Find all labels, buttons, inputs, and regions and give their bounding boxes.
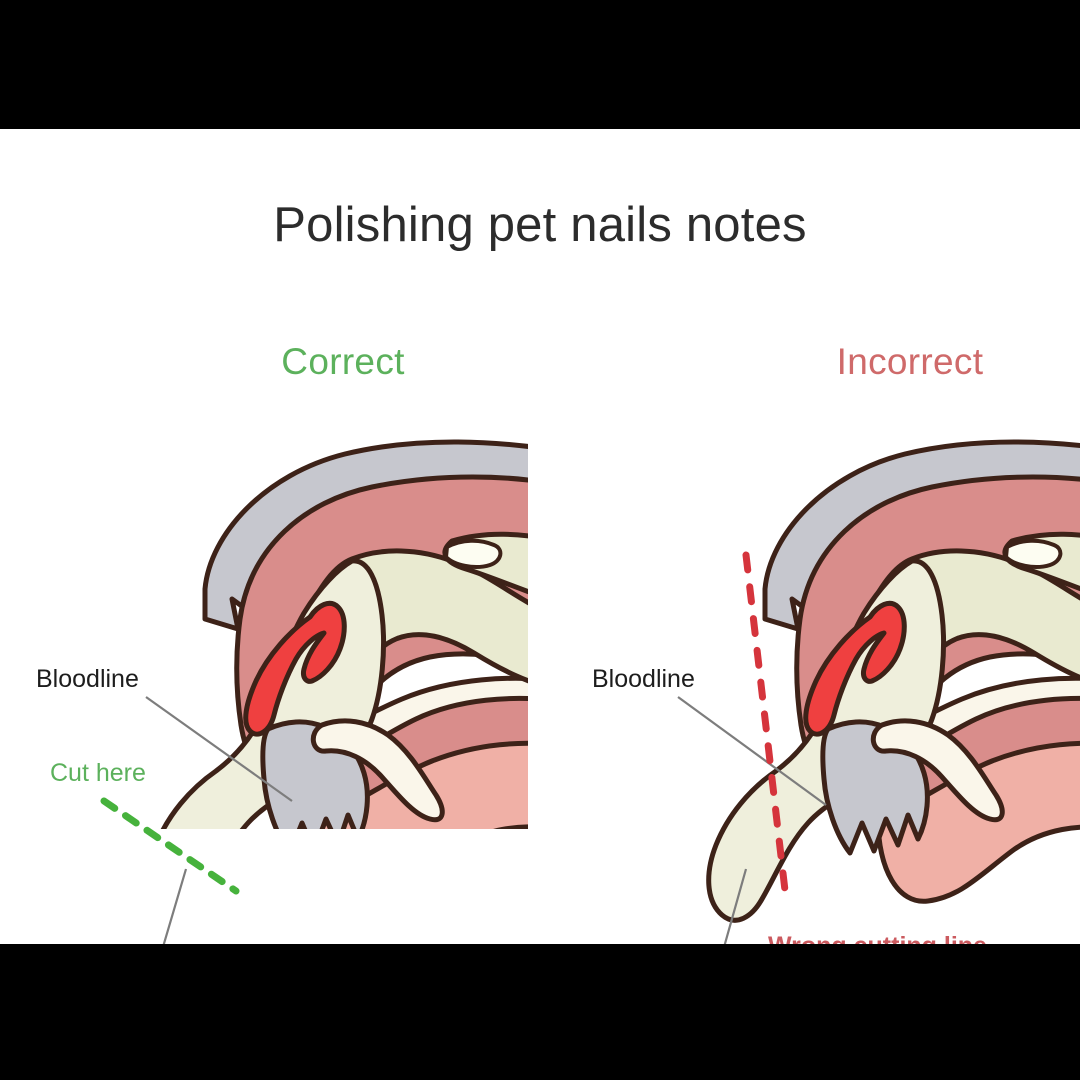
- diagram-correct-claw: [0, 129, 540, 944]
- letterbox-top: [0, 0, 1080, 129]
- label-wrong-cutting-line: Wrong cutting line: [768, 932, 987, 944]
- diagram-incorrect-claw: [560, 129, 1080, 944]
- leader-line-protein: [150, 869, 186, 944]
- label-bloodline-incorrect: Bloodline: [592, 665, 695, 694]
- slide-content: Polishing pet nails notes Correct Incorr…: [0, 129, 1080, 944]
- joint-highlight: [1006, 541, 1060, 567]
- screenshot-stage: Polishing pet nails notes Correct Incorr…: [0, 0, 1080, 1080]
- letterbox-bottom: [0, 944, 1080, 1080]
- label-cut-here: Cut here: [50, 759, 146, 788]
- label-bloodline-correct: Bloodline: [36, 665, 139, 694]
- joint-highlight: [446, 541, 500, 567]
